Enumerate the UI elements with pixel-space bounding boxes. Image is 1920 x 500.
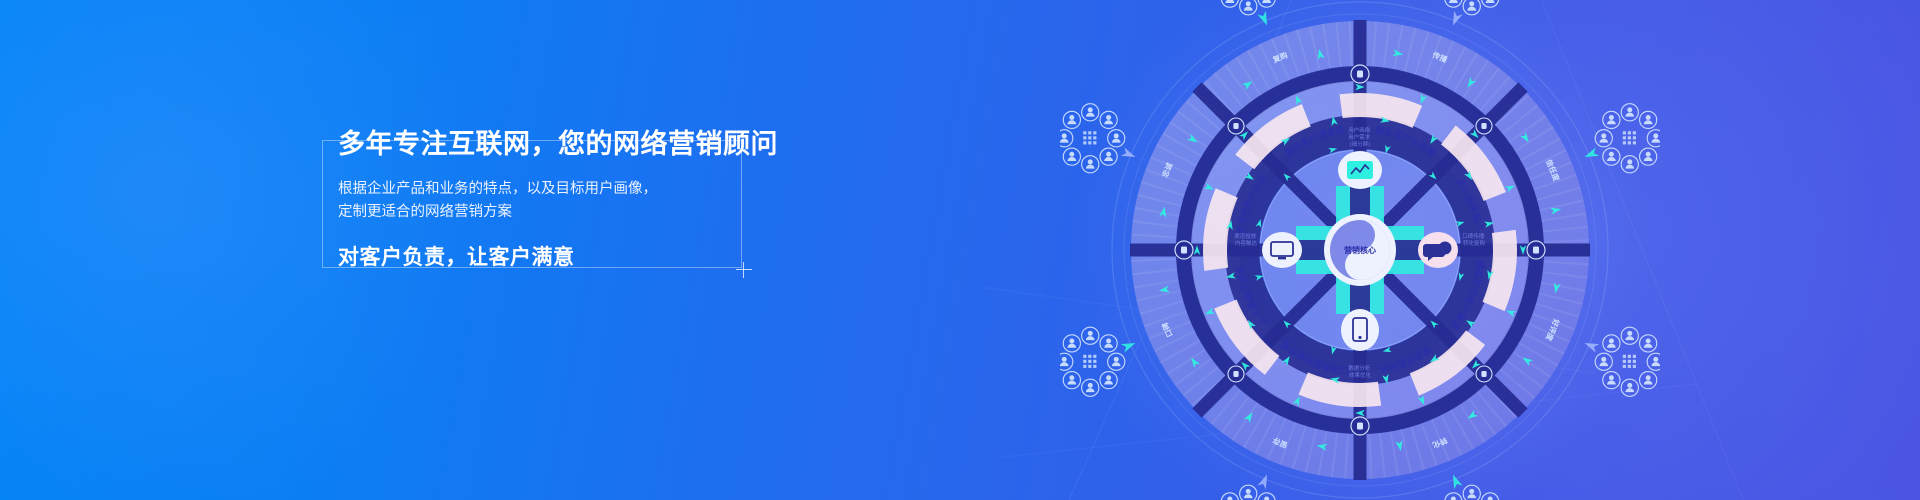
cluster-grid-cell: [1623, 355, 1626, 358]
cluster-grid-cell: [1623, 365, 1626, 368]
cluster-grid-cell: [1083, 365, 1086, 368]
hub-center-label: 营销核心: [1344, 245, 1376, 255]
text-content-stack: 多年专注互联网，您的网络营销顾问 根据企业产品和业务的特点，以及目标用户画像， …: [338, 128, 768, 271]
hub-icon-chart: [1338, 151, 1382, 189]
user-avatar-icon: [1640, 372, 1657, 389]
cluster-grid-cell: [1083, 131, 1086, 134]
cluster-grid-cell: [1093, 360, 1096, 363]
cluster-grid-cell: [1093, 131, 1096, 134]
cluster-grid-cell: [1628, 360, 1631, 363]
cluster-grid-cell: [1083, 360, 1086, 363]
cluster-grid-cell: [1088, 136, 1091, 139]
cluster-grid-cell: [1628, 131, 1631, 134]
hub-icon-monitor: [1262, 232, 1302, 268]
user-avatar-icon: [1647, 130, 1660, 147]
cluster-grid-cell: [1093, 141, 1096, 144]
cluster-grid-cell: [1633, 136, 1636, 139]
cluster-grid-cell: [1093, 355, 1096, 358]
cluster-grid-cell: [1628, 355, 1631, 358]
cluster-grid-cell: [1088, 360, 1091, 363]
cluster-grid-cell: [1093, 136, 1096, 139]
hub-note-1: 渠道投放 内容触达: [1234, 232, 1258, 247]
cluster-grid-cell: [1623, 136, 1626, 139]
hub-icon-chat: [1418, 232, 1458, 268]
user-avatar-icon: [1621, 104, 1638, 121]
user-avatar-icon: [1063, 372, 1080, 389]
user-avatar-icon: [1063, 148, 1080, 165]
cluster-grid-cell: [1633, 365, 1636, 368]
user-avatar-icon: [1640, 148, 1657, 165]
page-title: 多年专注互联网，您的网络营销顾问: [338, 128, 768, 162]
hub-note-3: 数据分析 效果优化: [1348, 364, 1372, 379]
user-avatar-icon: [1640, 335, 1657, 352]
user-avatar-icon: [1647, 353, 1660, 370]
hub-note-2: 口碑传播 转化复购: [1462, 232, 1486, 247]
user-avatar-icon: [1063, 335, 1080, 352]
user-avatar-icon: [1060, 130, 1073, 147]
cluster-grid-cell: [1623, 360, 1626, 363]
cluster-grid-cell: [1623, 131, 1626, 134]
slogan-text: 对客户负责，让客户满意: [338, 241, 768, 271]
cluster-grid-cell: [1633, 131, 1636, 134]
cluster-grid-cell: [1083, 355, 1086, 358]
user-avatar-icon: [1640, 111, 1657, 128]
user-avatar-icon: [1082, 104, 1099, 121]
cluster-grid-cell: [1088, 141, 1091, 144]
cluster-grid-cell: [1628, 141, 1631, 144]
cluster-grid-cell: [1633, 355, 1636, 358]
hub-note-0: 用户画像 用户需求 (细分群): [1348, 126, 1372, 148]
cluster-grid-cell: [1093, 365, 1096, 368]
cluster-grid-cell: [1088, 355, 1091, 358]
cluster-grid-cell: [1633, 360, 1636, 363]
wheel-graphic: 建立客户生态圈 关心回馈客户 精准定位客户需求 提供优质服务 口碑营销持续传播 …: [1060, 0, 1660, 500]
cluster-grid-cell: [1083, 136, 1086, 139]
cluster-grid-cell: [1623, 141, 1626, 144]
cluster-grid-cell: [1088, 131, 1091, 134]
crosshair-icon: [736, 262, 752, 278]
cluster-grid-cell: [1628, 365, 1631, 368]
subtitle-line-2: 定制更适合的网络营销方案: [338, 201, 768, 224]
cluster-grid-cell: [1633, 141, 1636, 144]
hub-icon-mobile: [1341, 309, 1379, 351]
user-avatar-icon: [1063, 111, 1080, 128]
cluster-grid-cell: [1628, 136, 1631, 139]
customer-marketing-wheel: 建立客户生态圈 关心回馈客户 精准定位客户需求 提供优质服务 口碑营销持续传播 …: [1060, 0, 1660, 500]
hero-banner: 多年专注互联网，您的网络营销顾问 根据企业产品和业务的特点，以及目标用户画像， …: [0, 0, 1920, 500]
subtitle-block: 根据企业产品和业务的特点，以及目标用户画像， 定制更适合的网络营销方案: [338, 178, 768, 225]
user-avatar-icon: [1060, 353, 1073, 370]
cluster-grid-cell: [1088, 365, 1091, 368]
cluster-grid-cell: [1083, 141, 1086, 144]
user-avatar-icon: [1082, 379, 1099, 396]
subtitle-line-1: 根据企业产品和业务的特点，以及目标用户画像，: [338, 178, 768, 201]
user-avatar-icon: [1621, 379, 1638, 396]
